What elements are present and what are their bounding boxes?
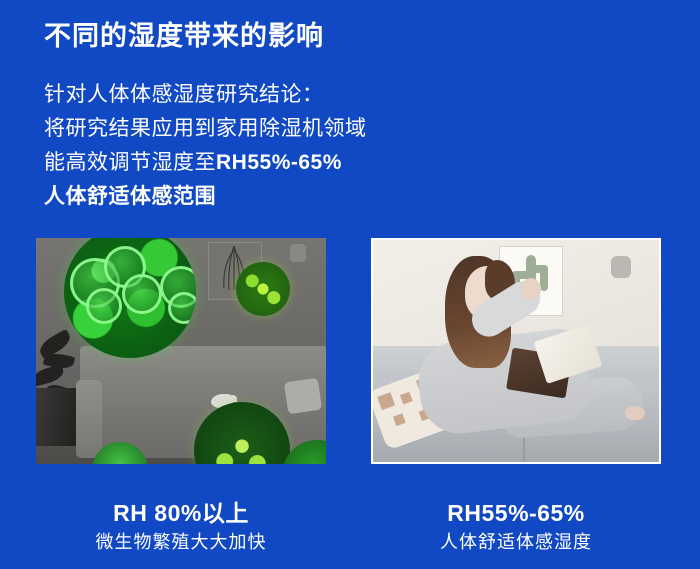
germ-blob xyxy=(168,292,196,324)
photo-high-humidity xyxy=(36,238,326,464)
poster-root: 不同的湿度带来的影响 针对人体体感湿度研究结论： 将研究结果应用到家用除湿机领域… xyxy=(0,0,700,569)
body-copy-block: 针对人体体感湿度研究结论： 将研究结果应用到家用除湿机领域 能高效调节湿度至RH… xyxy=(44,78,367,214)
caption-high-humidity: RH 80%以上 微生物繁殖大大加快 xyxy=(31,498,331,556)
caption-comfort-humidity: RH55%-65% 人体舒适体感湿度 xyxy=(366,498,666,556)
body-copy-line-3-prefix: 能高效调节湿度至 xyxy=(44,151,216,174)
left-photo-sofa-arm xyxy=(76,380,102,458)
germ-blob xyxy=(122,274,162,314)
left-photo-plant-pot xyxy=(36,388,80,446)
photo-comfort-humidity xyxy=(371,238,661,464)
pillow-motif xyxy=(400,392,413,405)
page-title: 不同的湿度带来的影响 xyxy=(44,18,324,54)
left-photo-cushion xyxy=(284,378,322,414)
caption-left-title: RH 80%以上 xyxy=(31,498,331,528)
pillow-motif xyxy=(377,392,395,410)
germ-blob xyxy=(86,288,122,324)
humidity-range-highlight: RH55%-65% xyxy=(216,151,342,174)
germ-sphere-small xyxy=(236,262,290,316)
right-photo-hand xyxy=(521,278,541,300)
caption-right-subtitle: 人体舒适体感湿度 xyxy=(366,528,666,556)
caption-right-title: RH55%-65% xyxy=(366,498,666,528)
body-copy-line-1: 针对人体体感湿度研究结论： xyxy=(44,78,367,112)
cactus-icon xyxy=(530,265,548,273)
caption-left-subtitle: 微生物繁殖大大加快 xyxy=(31,528,331,556)
left-photo-wall-disc xyxy=(290,244,306,262)
right-photo-foot xyxy=(625,406,645,420)
pillow-motif xyxy=(393,413,406,426)
body-copy-line-3: 能高效调节湿度至RH55%-65% xyxy=(44,146,367,180)
right-photo-wall-disc xyxy=(611,256,631,278)
body-copy-line-2: 将研究结果应用到家用除湿机领域 xyxy=(44,112,367,146)
body-copy-line-4: 人体舒适体感范围 xyxy=(44,180,367,214)
